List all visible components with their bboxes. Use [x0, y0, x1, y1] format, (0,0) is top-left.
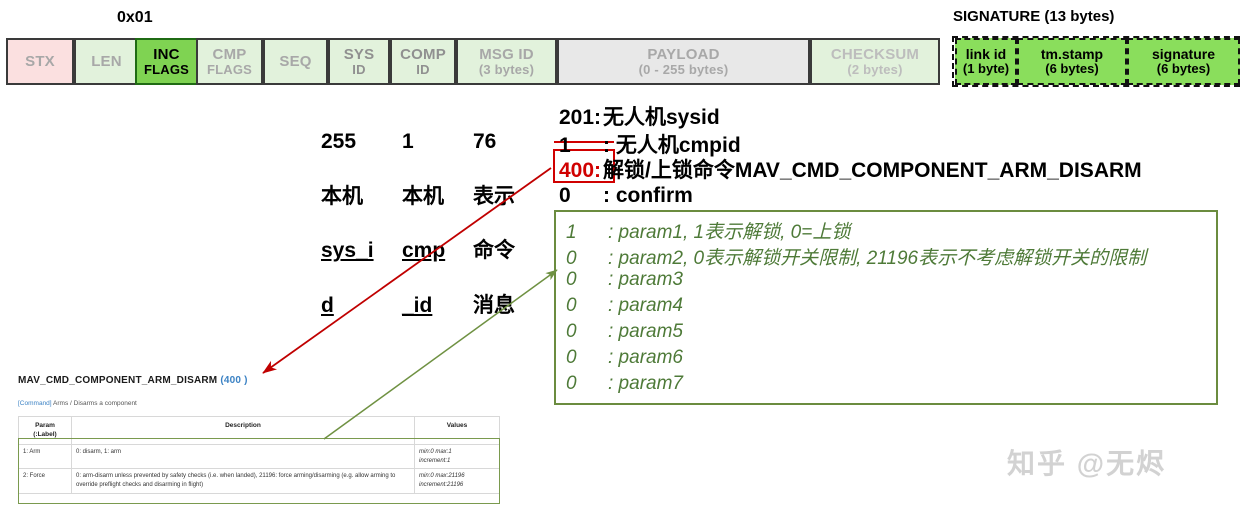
param-line-7: 0: param7 — [566, 373, 683, 395]
param-line-6-num: 0 — [566, 347, 608, 369]
param-line-1: 1: param1, 1表示解锁, 0=上锁 — [566, 217, 850, 244]
doc-title-id: (400 ) — [220, 375, 247, 386]
param-line-6-text: : param6 — [608, 347, 683, 368]
param-line-4-num: 0 — [566, 295, 608, 317]
packet-cell-len-label: LEN — [91, 54, 122, 70]
signature-cell-link-id: link id (1 byte) — [955, 38, 1017, 85]
annotation-msg-id-value: 76 — [473, 128, 515, 155]
table-row: 2: Force 0: arm-disarm unless prevented … — [19, 469, 500, 493]
table-row-1-values: min:0 max:1 increment:1 — [415, 444, 500, 468]
param-line-5-num: 0 — [566, 321, 608, 343]
annotation-cmp-id: 1 本机 cmp _id — [402, 101, 445, 347]
doc-title: MAV_CMD_COMPONENT_ARM_DISARM (400 ) — [18, 375, 248, 386]
doc-subtitle-text: Arms / Disarms a component — [52, 400, 137, 407]
table-header-param-main: Param — [22, 421, 68, 430]
param-line-6: 0: param6 — [566, 347, 683, 369]
doc-params-table: Param (:Label) Description Values 1: Arm… — [18, 416, 500, 494]
annotation-cmp-id-value: 1 — [402, 128, 445, 155]
payload-line-command: 400:解锁/上锁命令MAV_CMD_COMPONENT_ARM_DISARM — [559, 154, 1142, 184]
param-line-5: 0: param5 — [566, 321, 683, 343]
packet-cell-sys-id: SYS ID — [328, 38, 390, 85]
packet-cell-payload: PAYLOAD (0 - 255 bytes) — [557, 38, 810, 85]
annotation-msg-id: 76 表示 命令 消息 — [473, 101, 515, 347]
packet-cell-msg-id-label: MSG ID — [479, 47, 534, 63]
annotation-sys-id-line3: sys_i — [321, 237, 374, 264]
table-row-2-description: 0: arm-disarm unless prevented by safety… — [72, 469, 415, 493]
signature-cell-tm-stamp-sub: (6 bytes) — [1045, 62, 1098, 76]
table-header-param: Param (:Label) — [19, 417, 72, 445]
table-row: 1: Arm 0: disarm, 1: arm min:0 max:1 inc… — [19, 444, 500, 468]
signature-cell-tm-stamp: tm.stamp (6 bytes) — [1017, 38, 1127, 85]
annotation-sys-id-value: 255 — [321, 128, 374, 155]
payload-line-sysid-num: 201: — [559, 106, 603, 130]
table-header-description: Description — [72, 417, 415, 445]
packet-cell-checksum-label: CHECKSUM — [831, 47, 919, 63]
table-row-1-values-increment: increment:1 — [419, 457, 495, 466]
annotation-msg-id-line3: 命令 — [473, 237, 515, 264]
annotation-sys-id-line4: d — [321, 292, 374, 319]
packet-cell-inc-flags-sub: FLAGS — [144, 63, 189, 77]
annotation-msg-id-line2: 表示 — [473, 183, 515, 210]
payload-line-sysid: 201:无人机sysid — [559, 101, 720, 131]
param-line-7-num: 0 — [566, 373, 608, 395]
packet-cell-checksum: CHECKSUM (2 bytes) — [810, 38, 940, 85]
param-line-3: 0: param3 — [566, 269, 683, 291]
table-row-1-values-max: max:1 — [435, 449, 451, 455]
table-row-2-values-max: max:21196 — [435, 473, 464, 479]
payload-line-sysid-text: 无人机sysid — [603, 106, 720, 129]
packet-cell-sys-id-label: SYS — [344, 47, 375, 63]
packet-cell-len: LEN — [74, 38, 139, 85]
table-row-1-param: 1: Arm — [19, 444, 72, 468]
annotation-cmp-id-line3: cmp — [402, 237, 445, 264]
signature-cell-signature-sub: (6 bytes) — [1157, 62, 1210, 76]
table-row-2-param: 2: Force — [19, 469, 72, 493]
packet-cell-stx: STX — [6, 38, 74, 85]
table-header-param-sub: (:Label) — [22, 430, 68, 439]
params-box: 1: param1, 1表示解锁, 0=上锁 0: param2, 0表示解锁开… — [554, 210, 1218, 405]
packet-cell-comp-id: COMP ID — [390, 38, 456, 85]
table-row-2-values: min:0 max:21196 increment:21196 — [415, 469, 500, 493]
table-row-1-description: 0: disarm, 1: arm — [72, 444, 415, 468]
param-line-7-text: : param7 — [608, 373, 683, 394]
table-header-values: Values — [415, 417, 500, 445]
payload-line-command-text: 解锁/上锁命令MAV_CMD_COMPONENT_ARM_DISARM — [603, 159, 1142, 182]
payload-line-command-num: 400: — [559, 159, 603, 183]
param-line-4: 0: param4 — [566, 295, 683, 317]
param-line-3-num: 0 — [566, 269, 608, 291]
packet-cell-sys-id-sub: ID — [352, 63, 365, 77]
packet-cell-payload-label: PAYLOAD — [647, 47, 719, 63]
packet-cell-seq: SEQ — [263, 38, 328, 85]
payload-line-confirm: 0: confirm — [559, 184, 693, 208]
packet-cell-comp-id-label: COMP — [400, 47, 446, 63]
doc-subtitle: [Command] Arms / Disarms a component — [18, 400, 137, 407]
param-line-3-text: : param3 — [608, 269, 683, 290]
payload-line-confirm-text: : confirm — [603, 184, 693, 207]
signature-cell-signature: signature (6 bytes) — [1127, 38, 1240, 85]
annotation-cmp-id-line2: 本机 — [402, 183, 445, 210]
packet-cell-inc-flags-label: INC — [153, 47, 179, 63]
packet-cell-inc-flags: INC FLAGS — [135, 38, 198, 85]
signature-cell-link-id-label: link id — [966, 47, 1006, 62]
watermark: 知乎 @无烬 — [1007, 442, 1166, 482]
packet-cell-stx-label: STX — [25, 54, 55, 70]
packet-cell-seq-label: SEQ — [279, 54, 311, 70]
param-line-1-num: 1 — [566, 222, 608, 244]
packet-cell-cmp-flags-sub: FLAGS — [207, 63, 252, 77]
signature-title: SIGNATURE (13 bytes) — [953, 8, 1114, 25]
annotation-cmp-id-line4: _id — [402, 292, 445, 319]
packet-cell-cmp-flags: CMP FLAGS — [196, 38, 263, 85]
table-row-2-values-increment: increment:21196 — [419, 481, 495, 490]
payload-line-confirm-num: 0 — [559, 184, 603, 208]
param-line-2: 0: param2, 0表示解锁开关限制, 21196表示不考虑解锁开关的限制 — [566, 243, 1146, 270]
packet-cell-comp-id-sub: ID — [416, 63, 429, 77]
signature-cell-signature-label: signature — [1152, 47, 1215, 62]
packet-cell-msg-id-sub: (3 bytes) — [479, 63, 534, 77]
packet-cell-msg-id: MSG ID (3 bytes) — [456, 38, 557, 85]
annotation-sys-id: 255 本机 sys_i d — [321, 101, 374, 347]
param-line-5-text: : param5 — [608, 321, 683, 342]
inc-flags-hex-label: 0x01 — [117, 9, 153, 27]
annotation-msg-id-line4: 消息 — [473, 292, 515, 319]
doc-title-name: MAV_CMD_COMPONENT_ARM_DISARM — [18, 375, 217, 386]
param-line-1-text: : param1, 1表示解锁, 0=上锁 — [608, 222, 850, 243]
param-line-2-text: : param2, 0表示解锁开关限制, 21196表示不考虑解锁开关的限制 — [608, 248, 1146, 269]
table-header-row: Param (:Label) Description Values — [19, 417, 500, 445]
param-line-2-num: 0 — [566, 248, 608, 270]
packet-cell-payload-sub: (0 - 255 bytes) — [639, 63, 729, 77]
param-line-4-text: : param4 — [608, 295, 683, 316]
doc-subtitle-tag: [Command] — [18, 400, 52, 407]
table-row-2-values-min: min:0 — [419, 473, 434, 479]
annotation-sys-id-line2: 本机 — [321, 183, 374, 210]
signature-cell-link-id-sub: (1 byte) — [963, 62, 1009, 76]
signature-cell-tm-stamp-label: tm.stamp — [1041, 47, 1103, 62]
diagram-canvas: 0x01 STX LEN INC FLAGS CMP FLAGS SEQ SYS… — [0, 0, 1246, 509]
packet-cell-cmp-flags-label: CMP — [213, 47, 247, 63]
table-row-1-values-min: min:0 — [419, 449, 434, 455]
packet-cell-checksum-sub: (2 bytes) — [847, 63, 902, 77]
